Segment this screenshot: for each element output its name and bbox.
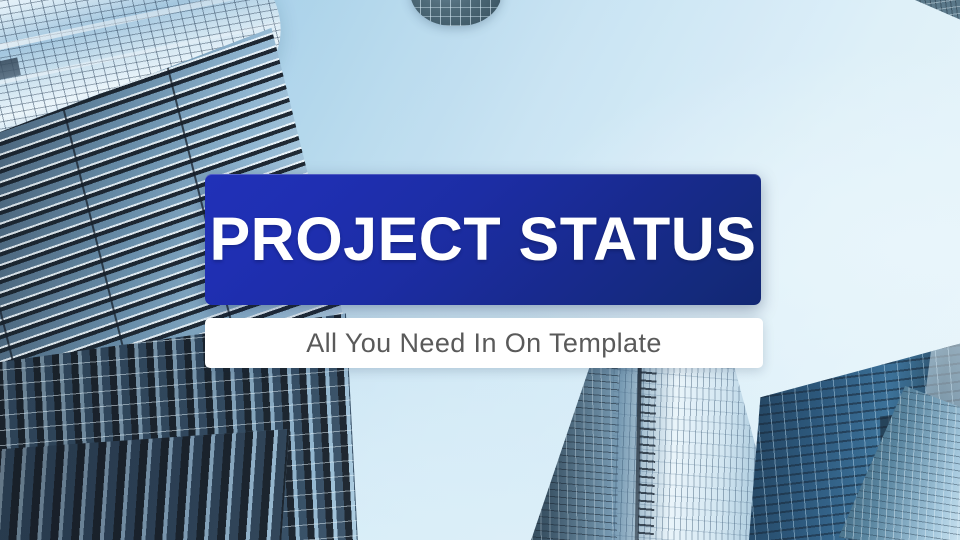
facade-fins <box>0 429 289 540</box>
title-plaque[interactable]: PROJECT STATUS <box>205 174 761 305</box>
tower-ladder-detail <box>637 370 657 540</box>
dome-top-center-icon <box>410 0 502 26</box>
page-subtitle: All You Need In On Template <box>306 330 662 357</box>
slab-bottom-left-icon <box>0 429 289 540</box>
page-title: PROJECT STATUS <box>209 209 756 270</box>
title-slide: PROJECT STATUS All You Need In On Templa… <box>0 0 960 540</box>
dome-mesh <box>410 0 502 26</box>
subtitle-bar[interactable]: All You Need In On Template <box>205 318 763 368</box>
